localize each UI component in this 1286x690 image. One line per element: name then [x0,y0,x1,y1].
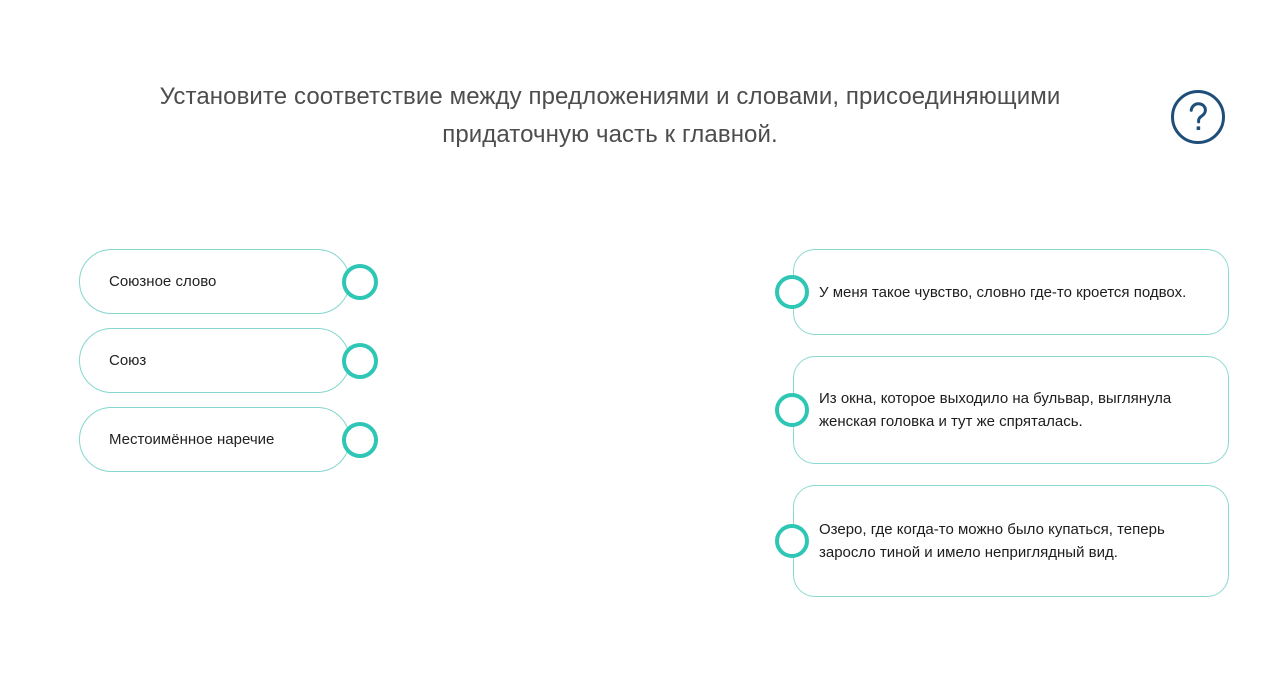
matching-board: Союзное слово Союз Местоимённое наречие … [0,0,1286,690]
right-sentences-column: У меня такое чувство, словно где-то крое… [793,249,1229,618]
right-sentence-card[interactable]: Из окна, которое выходило на бульвар, вы… [793,356,1229,464]
connector-circle-left-2[interactable] [342,343,378,379]
connector-circle-right-1[interactable] [775,275,809,309]
right-sentence-card[interactable]: У меня такое чувство, словно где-то крое… [793,249,1229,335]
left-option-label: Союзное слово [80,272,250,292]
right-sentence-label: Озеро, где когда-то можно было купаться,… [794,499,1228,583]
right-sentence-label: Из окна, которое выходило на бульвар, вы… [794,368,1228,452]
left-options-column: Союзное слово Союз Местоимённое наречие [79,249,369,486]
right-sentence-label: У меня такое чувство, словно где-то крое… [794,262,1216,323]
left-option-card[interactable]: Союз [79,328,350,393]
left-option-label: Местоимённое наречие [80,430,308,450]
connector-circle-right-2[interactable] [775,393,809,427]
connector-circle-right-3[interactable] [775,524,809,558]
connector-circle-left-1[interactable] [342,264,378,300]
left-option-card[interactable]: Местоимённое наречие [79,407,350,472]
left-option-label: Союз [80,351,180,371]
connector-circle-left-3[interactable] [342,422,378,458]
left-option-card[interactable]: Союзное слово [79,249,350,314]
right-sentence-card[interactable]: Озеро, где когда-то можно было купаться,… [793,485,1229,597]
